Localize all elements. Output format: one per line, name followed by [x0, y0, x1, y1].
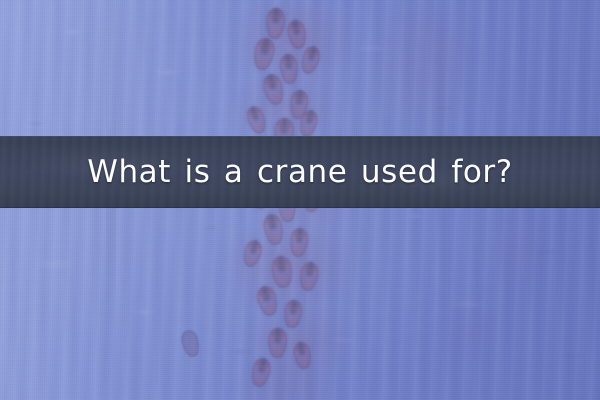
firebug	[249, 356, 273, 388]
firebug	[270, 255, 293, 289]
firebug	[244, 104, 269, 136]
firebug	[298, 44, 322, 76]
firebug	[267, 328, 287, 359]
firebug	[255, 284, 281, 318]
question-text: What is a crane used for?	[87, 157, 513, 188]
firebug	[289, 227, 309, 257]
firebug	[298, 261, 321, 293]
firebug	[251, 36, 277, 71]
question-image-card: What is a crane used for?	[0, 0, 600, 400]
firebug	[282, 299, 303, 329]
firebug	[265, 7, 286, 39]
firebug	[286, 19, 308, 50]
caption-band: What is a crane used for?	[0, 136, 600, 208]
firebug-stray	[179, 328, 202, 358]
firebug	[279, 53, 300, 84]
firebug	[241, 238, 265, 269]
firebug	[292, 341, 313, 371]
